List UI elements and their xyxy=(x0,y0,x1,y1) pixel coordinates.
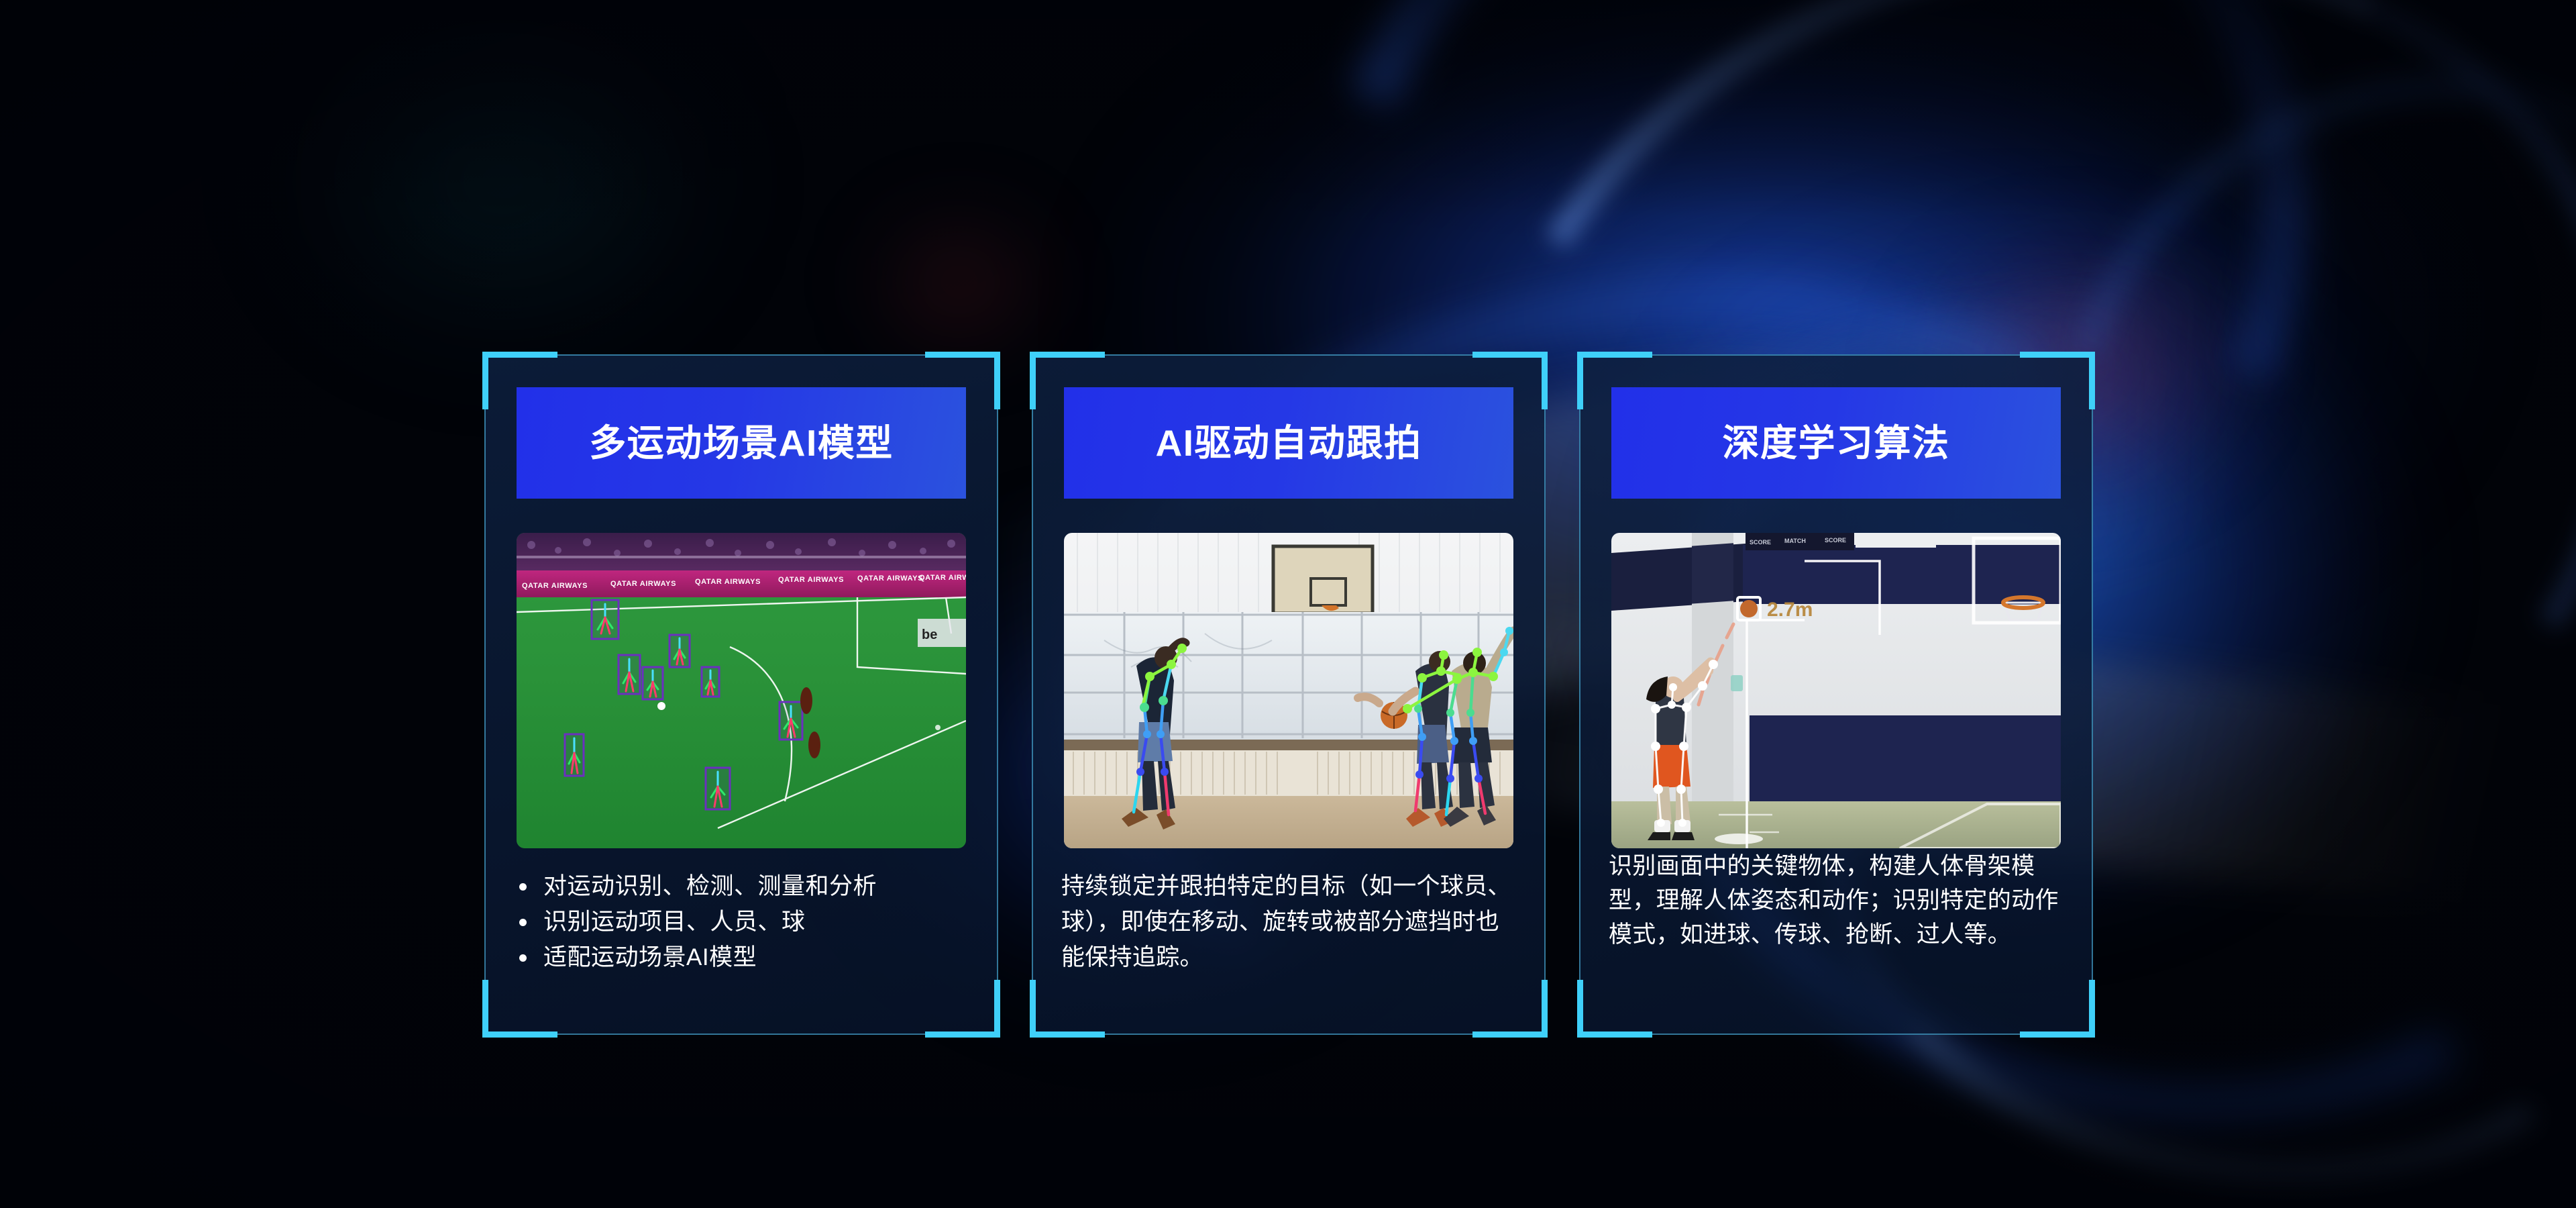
bullet-list: 对运动识别、检测、测量和分析 识别运动项目、人员、球 适配运动场景AI模型 xyxy=(514,868,974,976)
feature-card-deep-learning-algorithm[interactable]: 深度学习算法 SCOREMATCHSCOR xyxy=(1579,354,2093,1035)
card-body-bullets: 对运动识别、检测、测量和分析 识别运动项目、人员、球 适配运动场景AI模型 xyxy=(514,868,974,976)
soccer-detection-illustration: QATAR AIRWAYS QATAR AIRWAYS QATAR AIRWAY… xyxy=(517,533,966,848)
svg-text:SCORE: SCORE xyxy=(1750,539,1771,546)
card-description: 识别画面中的关键物体，构建人体骨架模型，理解人体姿态和动作；识别特定的动作模式，… xyxy=(1609,850,2069,952)
svg-text:MATCH: MATCH xyxy=(1784,538,1806,544)
card-title-banner: AI驱动自动跟拍 xyxy=(1064,387,1513,499)
list-item: 识别运动项目、人员、球 xyxy=(514,904,974,940)
feature-card-multi-sport-ai-model[interactable]: 多运动场景AI模型 xyxy=(484,354,998,1035)
svg-text:QATAR AIRWAYS: QATAR AIRWAYS xyxy=(778,576,844,584)
feature-card-row: 多运动场景AI模型 xyxy=(484,354,2094,1039)
shot-measurement-illustration: SCOREMATCHSCORE xyxy=(1611,533,2061,848)
svg-text:QATAR AIRWAYS: QATAR AIRWAYS xyxy=(857,574,923,583)
card-media-basketball-shot-measurement: SCOREMATCHSCORE xyxy=(1611,533,2061,848)
card-title-banner: 多运动场景AI模型 xyxy=(517,387,966,499)
svg-text:2.7m: 2.7m xyxy=(1767,599,1813,621)
card-title-text: 多运动场景AI模型 xyxy=(589,425,894,462)
svg-text:QATAR AIRWAYS: QATAR AIRWAYS xyxy=(610,580,676,588)
card-body-paragraph: 识别画面中的关键物体，构建人体骨架模型，理解人体姿态和动作；识别特定的动作模式，… xyxy=(1609,850,2069,952)
list-item: 对运动识别、检测、测量和分析 xyxy=(514,868,974,904)
list-item: 适配运动场景AI模型 xyxy=(514,940,974,975)
svg-text:QATAR AIRWAYS: QATAR AIRWAYS xyxy=(522,582,588,590)
svg-text:be: be xyxy=(922,627,937,642)
card-title-text: 深度学习算法 xyxy=(1722,425,1949,462)
svg-text:QATAR AIRWAYS: QATAR AIRWAYS xyxy=(695,578,761,586)
card-title-banner: 深度学习算法 xyxy=(1611,387,2061,499)
svg-text:QATAR AIRWAYS: QATAR AIRWAYS xyxy=(919,574,966,582)
card-title-text: AI驱动自动跟拍 xyxy=(1155,425,1421,462)
feature-card-ai-auto-tracking[interactable]: AI驱动自动跟拍 xyxy=(1032,354,1546,1035)
card-media-basketball-skeleton-tracking xyxy=(1064,533,1513,848)
basketball-tracking-illustration xyxy=(1064,533,1513,848)
card-body-paragraph: 持续锁定并跟拍特定的目标（如一个球员、球），即使在移动、旋转或被部分遮挡时也能保… xyxy=(1061,868,1521,976)
card-description: 持续锁定并跟拍特定的目标（如一个球员、球），即使在移动、旋转或被部分遮挡时也能保… xyxy=(1061,868,1521,976)
card-media-soccer-pose-detection: QATAR AIRWAYS QATAR AIRWAYS QATAR AIRWAY… xyxy=(517,533,966,848)
svg-text:SCORE: SCORE xyxy=(1825,537,1846,544)
